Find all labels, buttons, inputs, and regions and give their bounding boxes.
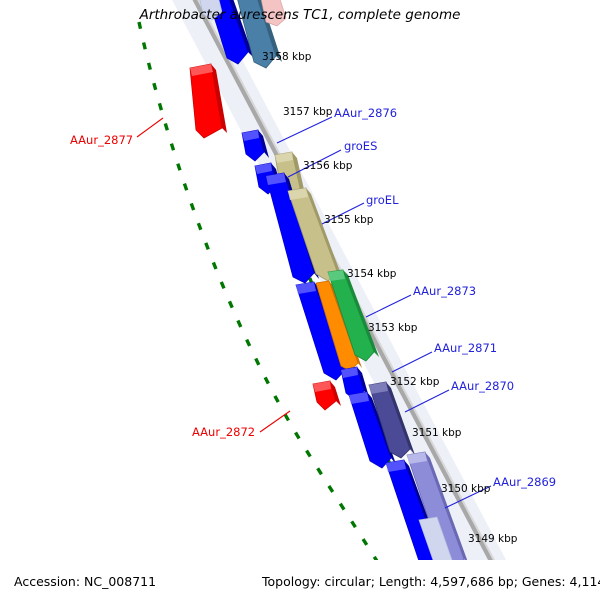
genome-map-canvas[interactable]: 3158 kbp 3157 kbp 3156 kbp 3155 kbp 3154… [0,0,600,560]
ruler-tick-label: 3152 kbp [390,376,439,388]
ruler-tick-label: 3154 kbp [347,268,396,280]
leader-aaur-2872 [260,411,290,432]
ruler-tick-label: 3158 kbp [262,51,311,63]
gene-label-groes[interactable]: groES [344,139,377,153]
ruler-tick-label: 3150 kbp [441,483,490,495]
ruler-tick-label: 3153 kbp [368,322,417,334]
accession-label: Accession: NC_008711 [14,574,156,589]
genome-viewer: 3158 kbp 3157 kbp 3156 kbp 3155 kbp 3154… [0,0,600,600]
ruler-tick-label: 3156 kbp [303,160,352,172]
page-title: Arthrobacter aurescens TC1, complete gen… [0,7,600,23]
gene-aaur-2872-reverse[interactable] [313,381,341,410]
gene-label-aaur-2869[interactable]: AAur_2869 [493,475,556,489]
gene-label-groel[interactable]: groEL [366,193,398,207]
ruler-tick-label: 3157 kbp [283,106,332,118]
ruler-tick-label: 3151 kbp [412,427,461,439]
ruler-tick-label: 3155 kbp [324,214,373,226]
gene-label-aaur-2870[interactable]: AAur_2870 [451,379,514,393]
gene-label-aaur-2876[interactable]: AAur_2876 [334,106,397,120]
gene-label-aaur-2873[interactable]: AAur_2873 [413,284,476,298]
leader-aaur-2876 [277,117,332,143]
leader-aaur-2873 [366,295,411,317]
leader-aaur-2877 [137,118,163,137]
gene-label-aaur-2871[interactable]: AAur_2871 [434,341,497,355]
status-bar: Accession: NC_008711 Topology: circular;… [0,566,600,600]
gene-label-aaur-2877[interactable]: AAur_2877 [70,133,133,147]
gene-label-aaur-2872[interactable]: AAur_2872 [192,425,255,439]
genome-info-label: Topology: circular; Length: 4,597,686 bp… [262,574,600,589]
ruler-tick-label: 3149 kbp [468,533,517,545]
